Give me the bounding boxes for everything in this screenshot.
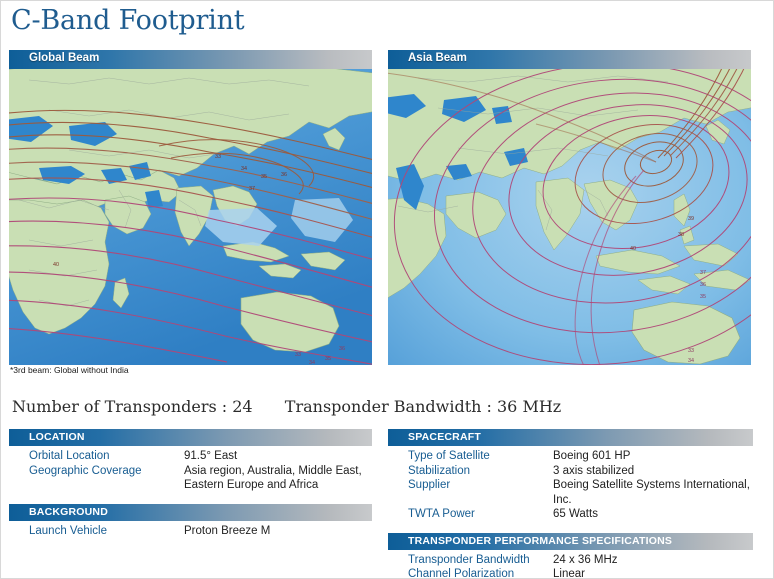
row-value-line2: Eastern Europe and Africa (184, 478, 362, 493)
table-row: Supplier Boeing Satellite Systems Intern… (408, 478, 753, 507)
map-header-global: Global Beam (9, 50, 372, 69)
row-value: 91.5° East (184, 449, 237, 464)
row-value-line1: Asia region, Australia, Middle East, (184, 464, 362, 479)
svg-text:33: 33 (688, 348, 694, 354)
svg-text:35: 35 (325, 356, 331, 362)
section-spacer (9, 493, 372, 504)
row-key: Launch Vehicle (29, 524, 184, 539)
row-key: TWTA Power (408, 507, 553, 522)
row-key: Stabilization (408, 464, 553, 479)
asia-beam-map: 37 36 35 38 39 40 33 34 (388, 50, 751, 365)
section-title-location: LOCATION (29, 431, 85, 443)
spec-column-left: LOCATION Orbital Location 91.5° East Geo… (9, 429, 372, 538)
row-value: Boeing 601 HP (553, 449, 630, 464)
row-value: Asia region, Australia, Middle East, Eas… (184, 464, 362, 493)
summary-line: Number of Transponders : 24 Transponder … (12, 397, 561, 416)
map-header-label-asia: Asia Beam (408, 52, 467, 64)
section-header-location: LOCATION (9, 429, 372, 446)
spec-column-right: SPACECRAFT Type of Satellite Boeing 601 … (388, 429, 753, 578)
section-header-background: BACKGROUND (9, 504, 372, 521)
section-header-spacecraft: SPACECRAFT (388, 429, 753, 446)
row-key: Channel Polarization (408, 567, 553, 578)
row-key: Orbital Location (29, 449, 184, 464)
row-value: Linear (553, 567, 585, 578)
page-title: C-Band Footprint (11, 5, 244, 36)
section-rows-spacecraft: Type of Satellite Boeing 601 HP Stabiliz… (388, 449, 753, 522)
svg-text:40: 40 (630, 246, 636, 252)
map-header-label-global: Global Beam (29, 52, 99, 64)
svg-text:34: 34 (309, 360, 315, 365)
transponder-bandwidth: Transponder Bandwidth : 36 MHz (285, 397, 561, 416)
section-rows-background: Launch Vehicle Proton Breeze M (9, 524, 372, 539)
svg-text:34: 34 (241, 166, 247, 172)
row-value: Proton Breeze M (184, 524, 270, 539)
svg-text:37: 37 (249, 186, 255, 192)
section-title-spacecraft: SPACECRAFT (408, 431, 481, 443)
svg-text:36: 36 (281, 172, 287, 178)
section-title-background: BACKGROUND (29, 506, 108, 518)
svg-text:38: 38 (678, 232, 684, 238)
svg-text:36: 36 (339, 346, 345, 352)
map-panel-global-beam: 33 34 35 36 37 40 33 34 35 36 Global Bea… (9, 50, 372, 365)
table-row: Geographic Coverage Asia region, Austral… (29, 464, 372, 493)
svg-text:35: 35 (261, 174, 267, 180)
table-row: Type of Satellite Boeing 601 HP (408, 449, 753, 464)
row-value: 24 x 36 MHz (553, 553, 618, 568)
svg-text:33: 33 (295, 352, 301, 358)
section-spacer (388, 522, 753, 533)
global-beam-map: 33 34 35 36 37 40 33 34 35 36 (9, 50, 372, 365)
row-value: Boeing Satellite Systems International, … (553, 478, 753, 507)
row-value: 65 Watts (553, 507, 598, 522)
svg-text:39: 39 (688, 216, 694, 222)
row-key: Geographic Coverage (29, 464, 184, 479)
section-rows-transponder-specs: Transponder Bandwidth 24 x 36 MHz Channe… (388, 553, 753, 579)
map-header-asia: Asia Beam (388, 50, 751, 69)
row-key: Supplier (408, 478, 553, 493)
footnote-third-beam: *3rd beam: Global without India (10, 365, 129, 375)
table-row: Orbital Location 91.5° East (29, 449, 372, 464)
svg-text:35: 35 (700, 294, 706, 300)
svg-text:40: 40 (53, 262, 59, 268)
table-row: TWTA Power 65 Watts (408, 507, 753, 522)
table-row: Stabilization 3 axis stabilized (408, 464, 753, 479)
table-row: Channel Polarization Linear (408, 567, 753, 578)
map-panel-asia-beam: 37 36 35 38 39 40 33 34 Asia Beam (388, 50, 751, 365)
row-key: Transponder Bandwidth (408, 553, 553, 568)
transponder-count: Number of Transponders : 24 (12, 397, 253, 416)
svg-text:34: 34 (688, 358, 694, 364)
svg-text:36: 36 (700, 282, 706, 288)
row-value: 3 axis stabilized (553, 464, 634, 479)
section-header-transponder-specs: TRANSPONDER PERFORMANCE SPECIFICATIONS (388, 533, 753, 550)
section-title-transponder-specs: TRANSPONDER PERFORMANCE SPECIFICATIONS (408, 535, 672, 547)
row-key: Type of Satellite (408, 449, 553, 464)
section-rows-location: Orbital Location 91.5° East Geographic C… (9, 449, 372, 493)
svg-text:33: 33 (215, 154, 221, 160)
c-band-footprint-page: C-Band Footprint (1, 1, 773, 578)
table-row: Launch Vehicle Proton Breeze M (29, 524, 372, 539)
table-row: Transponder Bandwidth 24 x 36 MHz (408, 553, 753, 568)
svg-text:37: 37 (700, 270, 706, 276)
